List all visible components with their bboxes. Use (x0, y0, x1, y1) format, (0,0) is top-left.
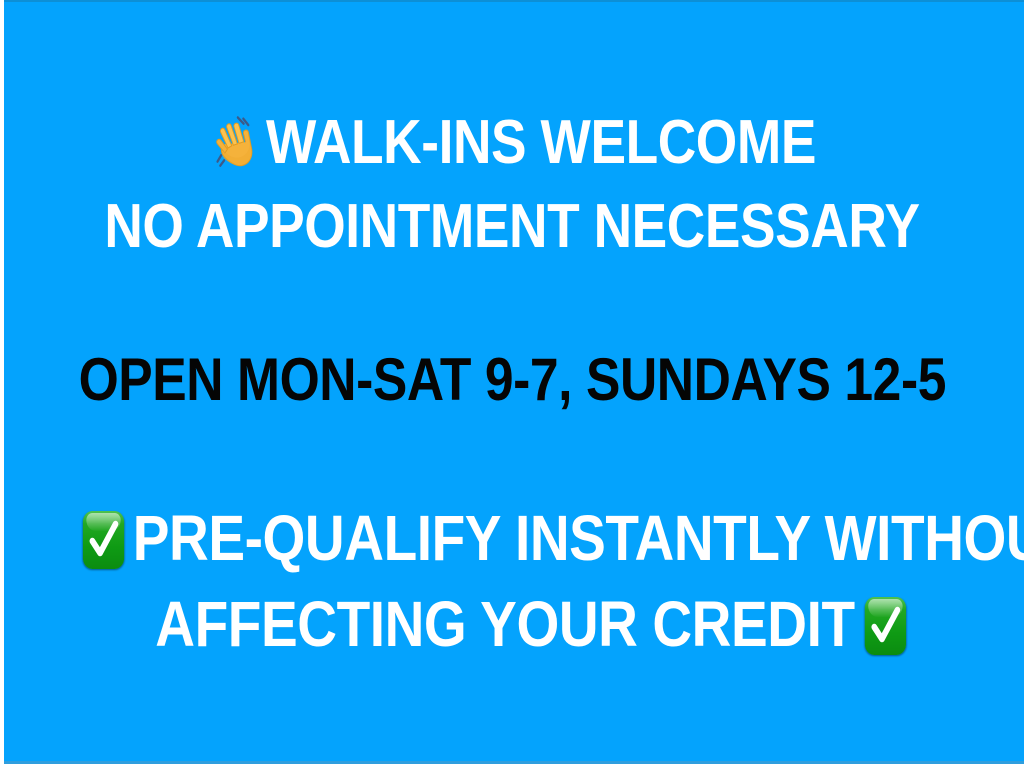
prequalify-line-two-text: AFFECTING YOUR CREDIT (156, 588, 855, 660)
store-hours-line: OPEN MON-SAT 9-7, SUNDAYS 12-5 (0, 350, 1024, 410)
waving-hand-icon (208, 112, 261, 174)
prequalify-line-two: AFFECTING YOUR CREDIT (0, 592, 1024, 660)
store-hours-text: OPEN MON-SAT 9-7, SUNDAYS 12-5 (78, 346, 945, 413)
white-check-mark-icon (864, 595, 909, 657)
headline-walk-ins: WALK-INS WELCOME (0, 112, 1024, 178)
white-check-mark-icon (81, 509, 126, 571)
headline-walk-ins-text: WALK-INS WELCOME (266, 108, 816, 177)
poster-content: WALK-INS WELCOME NO APPOINTMENT NECESSAR… (0, 0, 1024, 768)
promotional-sign: WALK-INS WELCOME NO APPOINTMENT NECESSAR… (0, 0, 1024, 768)
prequalify-line-one: PRE-QUALIFY INSTANTLY WITHOUT (0, 506, 1024, 574)
prequalify-line-one-text: PRE-QUALIFY INSTANTLY WITHOUT (133, 502, 1024, 574)
headline-no-appointment: NO APPOINTMENT NECESSARY (0, 196, 1024, 258)
headline-no-appointment-text: NO APPOINTMENT NECESSARY (104, 192, 919, 261)
